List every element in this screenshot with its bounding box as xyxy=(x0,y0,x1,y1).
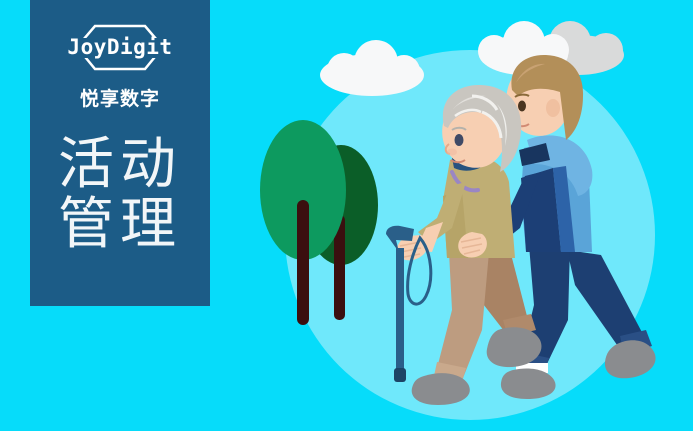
banner-canvas: JoyDigit 悦享数字 活动 管理 xyxy=(0,0,693,431)
cane-tip xyxy=(394,368,406,382)
brand-panel: JoyDigit 悦享数字 活动 管理 xyxy=(30,0,210,306)
woman-cheek xyxy=(447,149,457,156)
man-eye xyxy=(518,101,526,112)
joydigit-logo-icon: JoyDigit xyxy=(35,22,205,74)
woman-eye xyxy=(455,134,464,146)
logo-wordmark: JoyDigit xyxy=(67,35,172,59)
page-title: 活动 管理 xyxy=(30,135,210,255)
man-ear xyxy=(546,99,560,117)
page-title-line-2: 管理 xyxy=(30,195,210,255)
woman-front-shoe xyxy=(412,373,470,405)
logo-subtitle: 悦享数字 xyxy=(30,84,210,111)
page-title-line-1: 活动 xyxy=(30,135,210,195)
logo-lockup: JoyDigit xyxy=(30,22,210,74)
